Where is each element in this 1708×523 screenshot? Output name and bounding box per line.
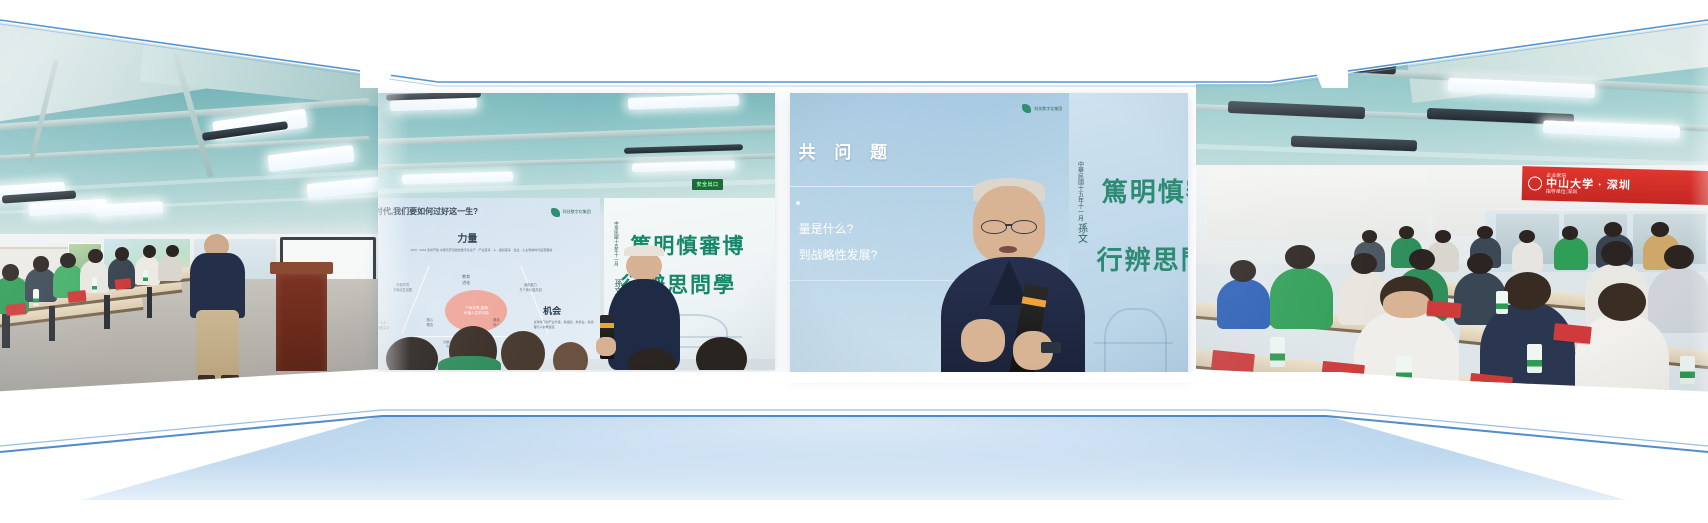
photo-audience-right: 企业家培 中山大学 · 深圳 指导单位:深圳 [1196, 12, 1708, 394]
photo-gallery-stage: 安全出口 科技数字化集团 的时代,我们要如何过好这一生? 力量 1978 - 2… [0, 0, 1708, 523]
gallery-slide-far-right[interactable]: 企业家培 中山大学 · 深圳 指导单位:深圳 [1196, 12, 1708, 394]
photo-speaker-with-slide: 安全出口 科技数字化集团 的时代,我们要如何过好这一生? 力量 1978 - 2… [378, 93, 775, 370]
perspective-floor-gradient [0, 415, 1708, 523]
photo-speaker-closeup: 科技数字化集团 共 问 题 量是什么? 到战略性发展? 中華民國十五年十一月 篤… [790, 93, 1188, 376]
gallery-slide-center-left[interactable]: 安全出口 科技数字化集团 的时代,我们要如何过好这一生? 力量 1978 - 2… [378, 93, 775, 370]
gallery-slide-center-right[interactable]: 科技数字化集团 共 问 题 量是什么? 到战略性发展? 中華民國十五年十一月 篤… [790, 93, 1188, 376]
gallery-slide-far-left[interactable] [0, 12, 378, 394]
photo-classroom-wide-left [0, 12, 378, 394]
